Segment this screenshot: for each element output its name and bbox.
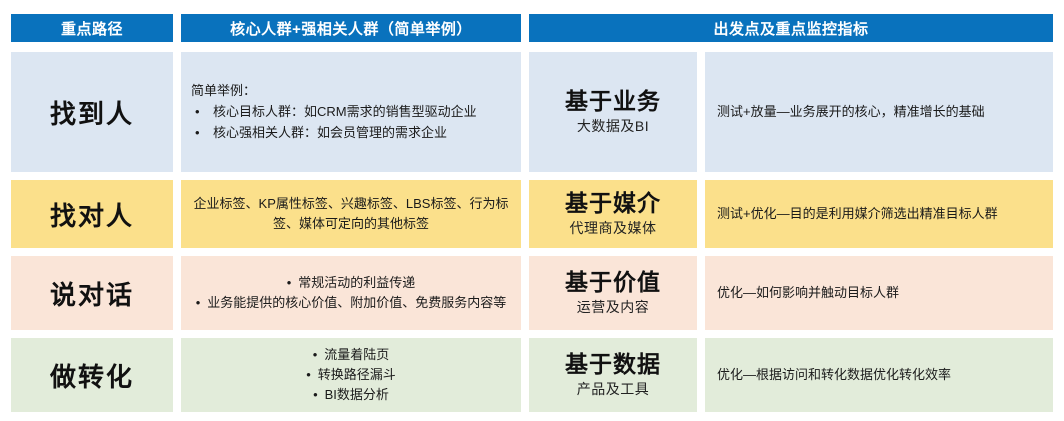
list-item-label: 业务能提供的核心价值、附加价值、免费服务内容等: [207, 295, 506, 310]
row-1-metric-cell: 测试+放量—业务展开的核心，精准增长的基础: [705, 52, 1053, 172]
list-item: •核心强相关人群：如会员管理的需求企业: [191, 123, 511, 143]
row-2-crowd-body: 企业标签、KP属性标签、兴趣标签、LBS标签、行为标签、媒体可定向的其他标签: [181, 194, 521, 234]
list-item: •转换路径漏斗: [191, 365, 511, 385]
row-3-path-label: 说对话: [50, 275, 134, 312]
row-1-crowd-cell: 简单举例： •核心目标人群：如CRM需求的销售型驱动企业 •核心强相关人群：如会…: [181, 52, 521, 172]
row-1-metric-text: 测试+放量—业务展开的核心，精准增长的基础: [705, 102, 1053, 122]
row-3-path-cell: 说对话: [11, 256, 173, 330]
list-item: •BI数据分析: [191, 385, 511, 405]
row-4-path-label: 做转化: [50, 357, 134, 394]
row-2-metric-text: 测试+优化—目的是利用媒介筛选出精准目标人群: [705, 204, 1053, 224]
list-item-label: 流量着陆页: [324, 347, 389, 362]
row-1-basis-cell: 基于业务 大数据及BI: [529, 52, 697, 172]
list-item-label: 转换路径漏斗: [318, 367, 396, 382]
row-2-path-label: 找对人: [50, 196, 134, 233]
row-4-metric-text: 优化—根据访问和转化数据优化转化效率: [705, 365, 1053, 385]
bullet-icon: •: [313, 387, 318, 402]
list-item: •业务能提供的核心价值、附加价值、免费服务内容等: [191, 293, 511, 313]
row-1-basis-title: 基于业务: [565, 88, 661, 114]
row-2-basis-subtitle: 代理商及媒体: [570, 218, 657, 238]
row-4-basis-title: 基于数据: [565, 351, 661, 377]
strategy-matrix: 重点路径 核心人群+强相关人群（简单举例） 出发点及重点监控指标 找到人 简单举…: [0, 0, 1064, 421]
row-4-path-cell: 做转化: [11, 338, 173, 412]
matrix-row: 做转化 •流量着陆页 •转换路径漏斗 •BI数据分析 基于数据 产品及工具 优化…: [11, 338, 1053, 412]
bullet-icon: •: [313, 347, 318, 362]
row-1-basis-subtitle: 大数据及BI: [577, 116, 649, 136]
list-item: •核心目标人群：如CRM需求的销售型驱动企业: [191, 102, 511, 122]
bullet-icon: •: [287, 275, 292, 290]
list-item: •常规活动的利益传递: [191, 273, 511, 293]
row-3-basis-title: 基于价值: [565, 269, 661, 295]
row-4-metric-cell: 优化—根据访问和转化数据优化转化效率: [705, 338, 1053, 412]
matrix-row: 说对话 •常规活动的利益传递 •业务能提供的核心价值、附加价值、免费服务内容等 …: [11, 256, 1053, 330]
list-item-label: 核心强相关人群：如会员管理的需求企业: [213, 125, 447, 140]
bullet-icon: •: [195, 102, 200, 122]
list-item-label: BI数据分析: [325, 387, 389, 402]
row-1-path-label: 找到人: [50, 94, 134, 131]
row-2-basis-title: 基于媒介: [565, 190, 661, 216]
bullet-icon: •: [195, 123, 200, 143]
row-3-basis-subtitle: 运营及内容: [577, 297, 650, 317]
matrix-row: 找到人 简单举例： •核心目标人群：如CRM需求的销售型驱动企业 •核心强相关人…: [11, 52, 1053, 172]
row-3-metric-cell: 优化—如何影响并触动目标人群: [705, 256, 1053, 330]
row-4-basis-cell: 基于数据 产品及工具: [529, 338, 697, 412]
row-3-crowd-body: •常规活动的利益传递 •业务能提供的核心价值、附加价值、免费服务内容等: [181, 273, 521, 313]
list-item-label: 常规活动的利益传递: [298, 275, 415, 290]
row-4-crowd-list: •流量着陆页 •转换路径漏斗 •BI数据分析: [191, 345, 511, 405]
row-4-crowd-cell: •流量着陆页 •转换路径漏斗 •BI数据分析: [181, 338, 521, 412]
row-1-path-cell: 找到人: [11, 52, 173, 172]
row-4-basis-subtitle: 产品及工具: [577, 379, 650, 399]
matrix-row: 找对人 企业标签、KP属性标签、兴趣标签、LBS标签、行为标签、媒体可定向的其他…: [11, 180, 1053, 248]
bullet-icon: •: [306, 367, 311, 382]
row-1-crowd-list: •核心目标人群：如CRM需求的销售型驱动企业 •核心强相关人群：如会员管理的需求…: [191, 102, 511, 142]
header-cell-crowd: 核心人群+强相关人群（简单举例）: [181, 14, 521, 42]
header-cell-metrics: 出发点及重点监控指标: [529, 14, 1053, 42]
list-item: •流量着陆页: [191, 345, 511, 365]
bullet-icon: •: [196, 295, 201, 310]
row-1-crowd-lead: 简单举例：: [191, 81, 511, 101]
row-2-path-cell: 找对人: [11, 180, 173, 248]
row-1-crowd-body: 简单举例： •核心目标人群：如CRM需求的销售型驱动企业 •核心强相关人群：如会…: [181, 81, 521, 142]
row-2-metric-cell: 测试+优化—目的是利用媒介筛选出精准目标人群: [705, 180, 1053, 248]
row-3-crowd-list: •常规活动的利益传递 •业务能提供的核心价值、附加价值、免费服务内容等: [191, 273, 511, 313]
row-3-basis-cell: 基于价值 运营及内容: [529, 256, 697, 330]
row-4-crowd-body: •流量着陆页 •转换路径漏斗 •BI数据分析: [181, 345, 521, 405]
list-item-label: 核心目标人群：如CRM需求的销售型驱动企业: [213, 104, 477, 119]
row-3-crowd-cell: •常规活动的利益传递 •业务能提供的核心价值、附加价值、免费服务内容等: [181, 256, 521, 330]
header-cell-path: 重点路径: [11, 14, 173, 42]
row-3-metric-text: 优化—如何影响并触动目标人群: [705, 283, 1053, 303]
matrix-header-row: 重点路径 核心人群+强相关人群（简单举例） 出发点及重点监控指标: [11, 14, 1053, 42]
row-2-basis-cell: 基于媒介 代理商及媒体: [529, 180, 697, 248]
row-2-crowd-cell: 企业标签、KP属性标签、兴趣标签、LBS标签、行为标签、媒体可定向的其他标签: [181, 180, 521, 248]
